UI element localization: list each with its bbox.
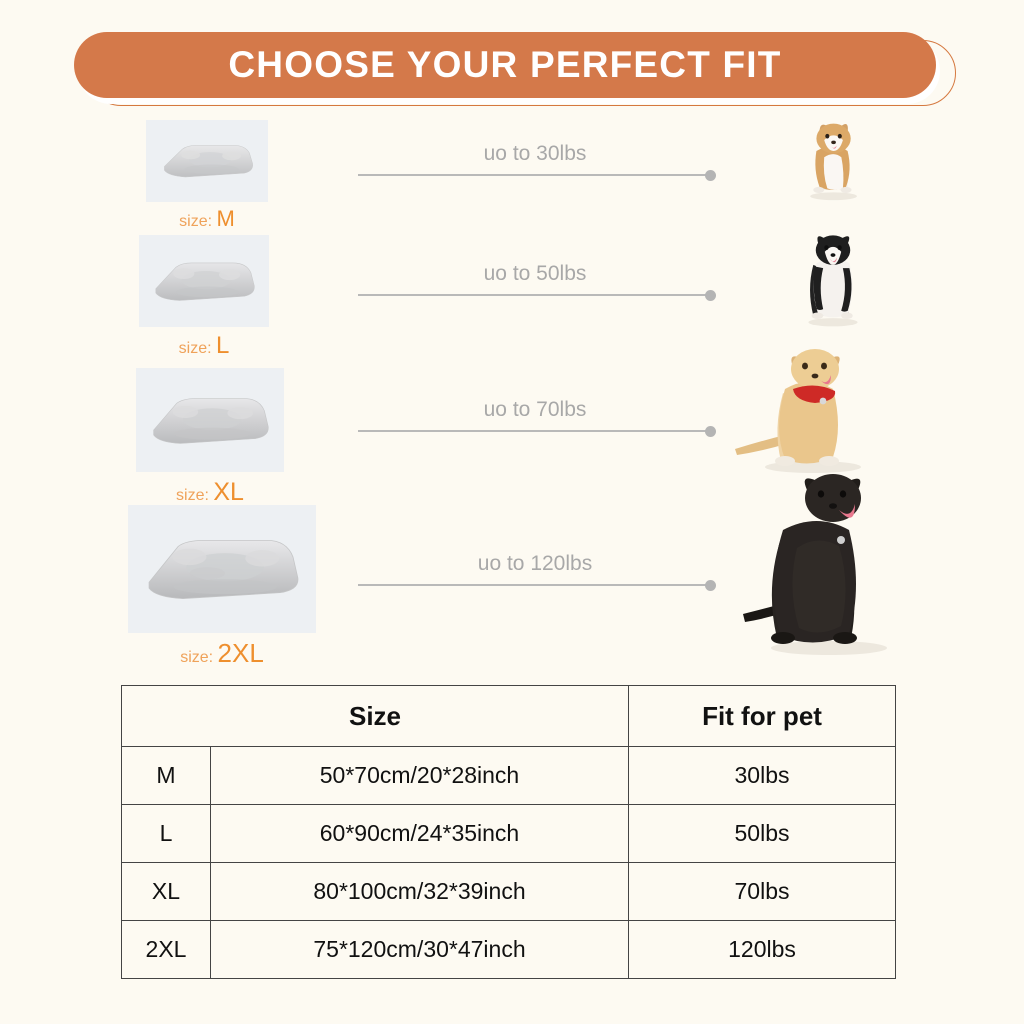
connector-line bbox=[358, 294, 712, 296]
connector-2xl: uo to 120lbs bbox=[358, 552, 712, 592]
bed-image-xl bbox=[136, 368, 284, 472]
pet-bed-icon bbox=[148, 249, 260, 313]
table-header-row: Size Fit for pet bbox=[122, 686, 895, 746]
page-title: CHOOSE YOUR PERFECT FIT bbox=[228, 44, 781, 86]
dog-photo-great-dane bbox=[737, 468, 902, 658]
size-table: Size Fit for pet M 50*70cm/20*28inch 30l… bbox=[121, 685, 896, 979]
connector-endpoint-dot bbox=[705, 290, 716, 301]
table-row: M 50*70cm/20*28inch 30lbs bbox=[122, 746, 895, 804]
size-label-xl: size: XL bbox=[136, 478, 284, 507]
weight-text-l: uo to 50lbs bbox=[358, 262, 712, 286]
size-prefix: size: bbox=[179, 340, 216, 357]
connector-xl: uo to 70lbs bbox=[358, 398, 712, 438]
pet-bed-icon bbox=[146, 384, 273, 457]
cell-size-abbr: M bbox=[122, 747, 211, 804]
weight-text-m: uo to 30lbs bbox=[358, 142, 712, 166]
cell-fit: 50lbs bbox=[629, 805, 895, 862]
connector-m: uo to 30lbs bbox=[358, 142, 712, 182]
bed-image-2xl bbox=[128, 505, 316, 633]
size-label-l: size: L bbox=[139, 332, 269, 360]
connector-line bbox=[358, 584, 712, 586]
cell-size-abbr: L bbox=[122, 805, 211, 862]
connector-line bbox=[358, 174, 712, 176]
bed-image-m bbox=[146, 120, 268, 202]
cell-fit: 30lbs bbox=[629, 747, 895, 804]
banner-pill: CHOOSE YOUR PERFECT FIT bbox=[74, 32, 936, 98]
pet-bed-icon bbox=[141, 524, 303, 614]
table-row: 2XL 75*120cm/30*47inch 120lbs bbox=[122, 920, 895, 978]
header-banner: CHOOSE YOUR PERFECT FIT bbox=[70, 32, 958, 104]
table-header-fit: Fit for pet bbox=[629, 686, 895, 746]
cell-dimensions: 60*90cm/24*35inch bbox=[211, 805, 629, 862]
table-row: L 60*90cm/24*35inch 50lbs bbox=[122, 804, 895, 862]
cell-dimensions: 80*100cm/32*39inch bbox=[211, 863, 629, 920]
size-prefix: size: bbox=[180, 649, 217, 666]
table-row: XL 80*100cm/32*39inch 70lbs bbox=[122, 862, 895, 920]
size-value: 2XL bbox=[218, 638, 264, 668]
cell-size-abbr: XL bbox=[122, 863, 211, 920]
connector-line bbox=[358, 430, 712, 432]
size-prefix: size: bbox=[179, 213, 216, 230]
bed-image-l bbox=[139, 235, 269, 327]
size-label-2xl: size: 2XL bbox=[128, 638, 316, 669]
connector-endpoint-dot bbox=[705, 170, 716, 181]
size-value: L bbox=[216, 332, 229, 359]
connector-endpoint-dot bbox=[705, 426, 716, 437]
dog-photo-corgi bbox=[793, 115, 871, 201]
weight-text-xl: uo to 70lbs bbox=[358, 398, 712, 422]
cell-size-abbr: 2XL bbox=[122, 921, 211, 978]
size-label-m: size: M bbox=[146, 206, 268, 232]
weight-text-2xl: uo to 120lbs bbox=[358, 552, 712, 576]
dog-photo-border-collie bbox=[792, 228, 874, 328]
dog-photo-golden-retriever bbox=[727, 345, 877, 475]
pet-bed-icon bbox=[155, 132, 260, 189]
size-value: XL bbox=[213, 478, 244, 506]
cell-dimensions: 75*120cm/30*47inch bbox=[211, 921, 629, 978]
size-prefix: size: bbox=[176, 487, 213, 504]
size-chart-page: CHOOSE YOUR PERFECT FIT bbox=[0, 0, 1024, 1024]
size-value: M bbox=[217, 206, 235, 231]
connector-l: uo to 50lbs bbox=[358, 262, 712, 302]
cell-fit: 70lbs bbox=[629, 863, 895, 920]
cell-fit: 120lbs bbox=[629, 921, 895, 978]
cell-dimensions: 50*70cm/20*28inch bbox=[211, 747, 629, 804]
table-header-size: Size bbox=[122, 686, 629, 746]
connector-endpoint-dot bbox=[705, 580, 716, 591]
